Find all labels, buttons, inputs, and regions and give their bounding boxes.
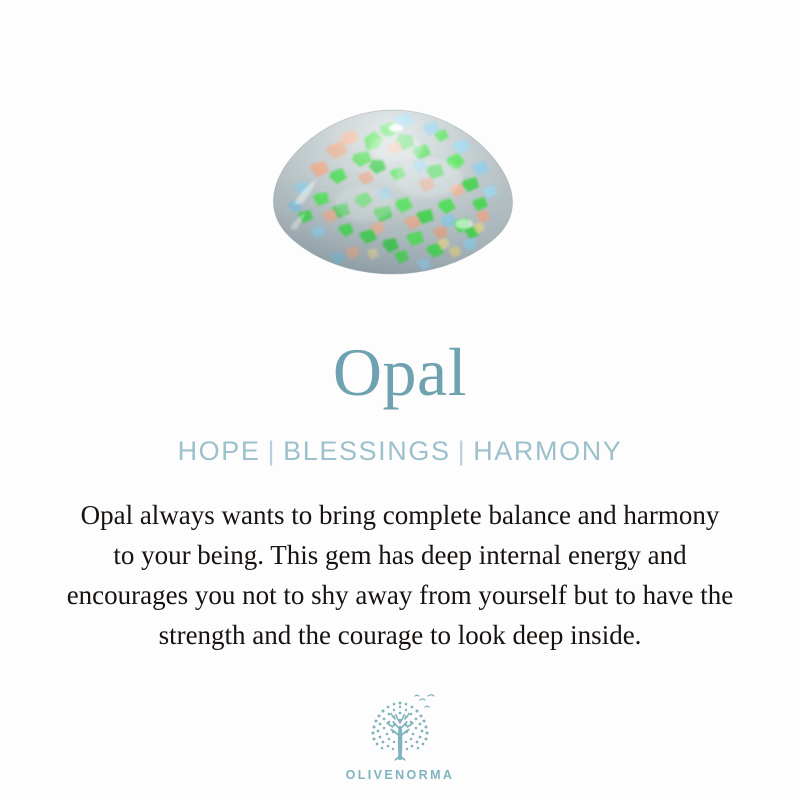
opal-gem-image <box>268 108 518 278</box>
page-title: Opal <box>333 338 467 406</box>
opal-gem-svg <box>268 108 518 278</box>
keyword-blessings: BLESSINGS <box>283 436 450 466</box>
brand-logo[interactable]: OLIVENORMA <box>0 690 800 782</box>
keyword-separator-2: | <box>451 436 474 466</box>
brand-wordmark: OLIVENORMA <box>346 768 455 782</box>
keyword-separator-1: | <box>260 436 283 466</box>
description-text: Opal always wants to bring complete bala… <box>5 495 795 655</box>
description-line: strength and the courage to look deep in… <box>5 615 795 655</box>
gemstone-info-card: Opal HOPE|BLESSINGS|HARMONY Opal always … <box>0 0 800 800</box>
hero-image-area <box>0 0 800 300</box>
olive-tree-logo-icon <box>360 690 440 766</box>
keyword-subtitle: HOPE|BLESSINGS|HARMONY <box>178 438 623 465</box>
description-line: Opal always wants to bring complete bala… <box>5 495 795 535</box>
keyword-hope: HOPE <box>178 436 261 466</box>
description-line: to your being. This gem has deep interna… <box>5 535 795 575</box>
description-line: encourages you not to shy away from your… <box>5 575 795 615</box>
keyword-harmony: HARMONY <box>473 436 622 466</box>
